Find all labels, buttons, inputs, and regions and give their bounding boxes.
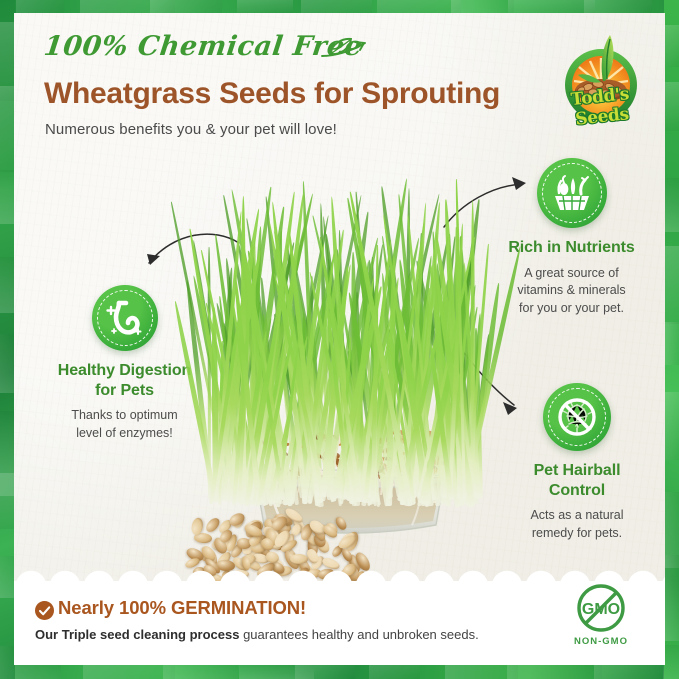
seed-bowl-sunburst-logo [548,29,654,135]
callout-body: Thanks to optimum level of enzymes! [32,407,217,443]
no-gmo-icon: GMO [575,582,627,634]
frame-border-left [0,0,15,679]
frame-border-top [0,0,679,14]
germination-band: Nearly 100% GERMINATION! Our Triple seed… [14,581,665,665]
non-gmo-label: NON-GMO [569,636,633,647]
frame-border-bottom [0,664,679,679]
germination-subtext-rest: guarantees healthy and unbroken seeds. [239,627,478,642]
chemical-free-script: 100% Chemical Free [42,31,364,62]
vegetable-basket-icon [537,158,607,228]
frame-border-right [664,0,679,679]
arrow-to-digestion-head [147,254,160,265]
callout-title: Rich in Nutrients [484,238,659,258]
leaf-icon [320,35,368,61]
callout-title: Pet Hairball Control [492,461,662,500]
no-hairball-icon [543,383,611,451]
germination-subtext-strong: Our Triple seed cleaning process [35,627,239,642]
non-gmo-badge: GMO NON-GMO [569,582,633,647]
page-title: Wheatgrass Seeds for Sprouting [44,77,500,111]
stomach-icon [92,285,158,351]
callout-body: Acts as a natural remedy for pets. [492,507,662,543]
page-subtitle: Numerous benefits you & your pet will lo… [45,121,337,138]
poster-canvas: 100% Chemical Free Wheatgrass Seeds for … [14,13,665,665]
poster-root: 100% Chemical Free Wheatgrass Seeds for … [0,0,679,679]
germination-subtext: Our Triple seed cleaning process guarant… [35,627,479,642]
brand-logo[interactable]: Todd's Seeds [548,29,654,135]
svg-text:GMO: GMO [582,601,620,618]
germination-headline: Nearly 100% GERMINATION! [58,597,306,619]
callout-pet-hairball-control[interactable]: Pet Hairball Control Acts as a natural r… [492,383,662,543]
product-photo [174,163,514,583]
check-circle-icon [35,601,54,620]
